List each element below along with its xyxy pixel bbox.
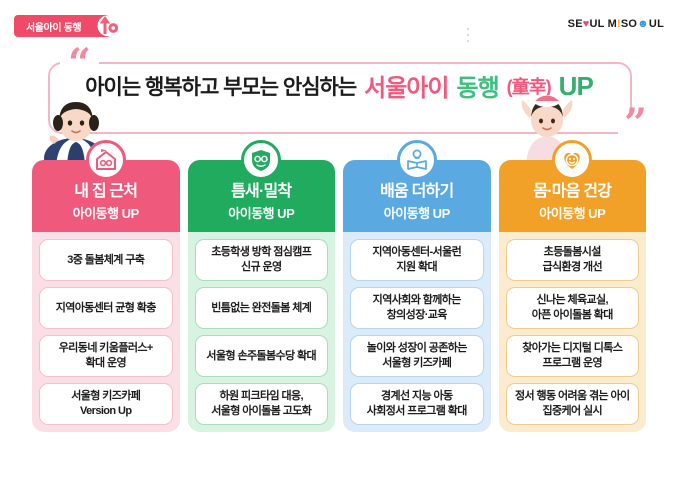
smiley-icon: ☻ — [637, 18, 649, 30]
column-item-list: 3중 돌봄체계 구축 지역아동센터 균형 확충 우리동네 키움플러스+확대 운영… — [32, 232, 180, 425]
column-title: 틈새·밀착 — [192, 182, 332, 201]
headline-brand-seoul-ai: 서울아이 — [364, 68, 448, 103]
column-item-list: 초등돌봄시설급식환경 개선 신나는 체육교실,아픈 아이돌봄 확대 찾아가는 디… — [499, 232, 647, 425]
heart-icon: ♥ — [583, 18, 590, 30]
list-item[interactable]: 서울형 손주돌봄수당 확대 — [195, 335, 329, 377]
list-item[interactable]: 찾아가는 디지털 디톡스프로그램 운영 — [506, 335, 640, 377]
list-item[interactable]: 지역사회와 함께하는창의성장·교육 — [350, 287, 484, 329]
column-learning: 배움 더하기 아이동행 UP 지역아동센터-서울런지원 확대 지역사회와 함께하… — [343, 160, 491, 432]
list-item[interactable]: 우리동네 키움플러스+확대 운영 — [39, 335, 173, 377]
heart-smiley-icon — [552, 140, 592, 180]
column-item-list: 지역아동센터-서울런지원 확대 지역사회와 함께하는창의성장·교육 놀이와 성장… — [343, 232, 491, 425]
logo-text-part2: UL M — [589, 18, 616, 30]
list-item[interactable]: 지역아동센터 균형 확충 — [39, 287, 173, 329]
column-subtitle: 아이동행 UP — [36, 203, 176, 222]
column-close-care: 틈새·밀착 아이동행 UP 초등학생 방학 점심캠프신규 운영 빈틈없는 완전돌… — [188, 160, 336, 432]
list-item[interactable]: 3중 돌봄체계 구축 — [39, 239, 173, 281]
seoul-my-soul-logo: SE ♥ UL M ! SO ☻ UL — [568, 18, 664, 30]
book-lightbulb-icon — [397, 140, 437, 180]
list-item[interactable]: 빈틈없는 완전돌봄 체계 — [195, 287, 329, 329]
list-item[interactable]: 초등돌봄시설급식환경 개선 — [506, 239, 640, 281]
list-item[interactable]: 지역아동센터-서울런지원 확대 — [350, 239, 484, 281]
list-item[interactable]: 서울형 키즈카페Version Up — [39, 383, 173, 425]
list-item[interactable]: 초등학생 방학 점심캠프신규 운영 — [195, 239, 329, 281]
shield-face-icon — [241, 140, 281, 180]
column-card: 내 집 근처 아이동행 UP 3중 돌봄체계 구축 지역아동센터 균형 확충 우… — [32, 160, 180, 432]
column-my-neighborhood: 내 집 근처 아이동행 UP 3중 돌봄체계 구축 지역아동센터 균형 확충 우… — [32, 160, 180, 432]
column-item-list: 초등학생 방학 점심캠프신규 운영 빈틈없는 완전돌봄 체계 서울형 손주돌봄수… — [188, 232, 336, 425]
column-subtitle: 아이동행 UP — [503, 203, 643, 222]
column-health: 몸·마음 건강 아이동행 UP 초등돌봄시설급식환경 개선 신나는 체육교실,아… — [499, 160, 647, 432]
column-card: 몸·마음 건강 아이동행 UP 초등돌봄시설급식환경 개선 신나는 체육교실,아… — [499, 160, 647, 432]
logo-text-part4: UL — [649, 18, 664, 30]
dot-decoration-icon — [463, 27, 473, 43]
list-item[interactable]: 하원 피크타임 대응,서울형 아이돌봄 고도화 — [195, 383, 329, 425]
column-title: 몸·마음 건강 — [503, 182, 643, 201]
list-item[interactable]: 신나는 체육교실,아픈 아이돌봄 확대 — [506, 287, 640, 329]
logo-text-part1: SE — [568, 18, 583, 30]
list-item[interactable]: 경계선 지능 아동사회정서 프로그램 확대 — [350, 383, 484, 425]
column-card: 배움 더하기 아이동행 UP 지역아동센터-서울런지원 확대 지역사회와 함께하… — [343, 160, 491, 432]
logo-text-part3: SO — [621, 18, 637, 30]
list-item[interactable]: 놀이와 성장이 공존하는서울형 키즈카페 — [350, 335, 484, 377]
column-title: 배움 더하기 — [347, 182, 487, 201]
category-columns: 내 집 근처 아이동행 UP 3중 돌봄체계 구축 지역아동센터 균형 확충 우… — [32, 160, 646, 432]
quote-close-mark: ” — [618, 110, 653, 138]
column-title: 내 집 근처 — [36, 182, 176, 201]
column-card: 틈새·밀착 아이동행 UP 초등학생 방학 점심캠프신규 운영 빈틈없는 완전돌… — [188, 160, 336, 432]
column-subtitle: 아이동행 UP — [347, 203, 487, 222]
brand-badge-label: 서울아이 동행 — [26, 19, 81, 34]
list-item[interactable]: 정서 행동 어려움 겪는 아이집중케어 실시 — [506, 383, 640, 425]
up-arrow-logo-icon — [93, 10, 123, 40]
column-subtitle: 아이동행 UP — [192, 203, 332, 222]
headline-brand-donghaeng: 동행 — [457, 68, 499, 103]
headline-plain-text: 아이는 행복하고 부모는 안심하는 — [85, 71, 356, 101]
brand-badge: 서울아이 동행 — [14, 15, 111, 37]
house-with-flag-icon — [86, 140, 126, 180]
